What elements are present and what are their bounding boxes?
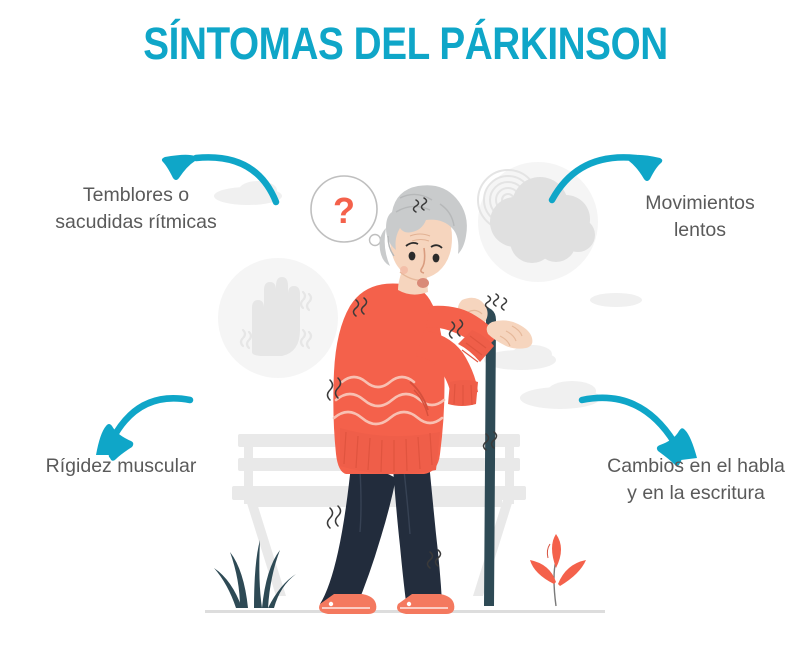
symptom-label-rigidity: Rígidez muscular (6, 453, 236, 480)
infographic-canvas: ? (0, 0, 811, 664)
symptom-label-speech: Cambios en el habla y en la escritura (585, 453, 807, 507)
symptom-label-slow-movement: Movimientos lentos (600, 190, 800, 244)
arrow-layer (0, 0, 811, 664)
page-title: SÍNTOMAS DEL PÁRKINSON (57, 18, 754, 70)
curved-arrow-down-left-icon (96, 398, 190, 460)
symptom-label-tremor: Temblores o sacudidas rítmicas (6, 182, 266, 236)
